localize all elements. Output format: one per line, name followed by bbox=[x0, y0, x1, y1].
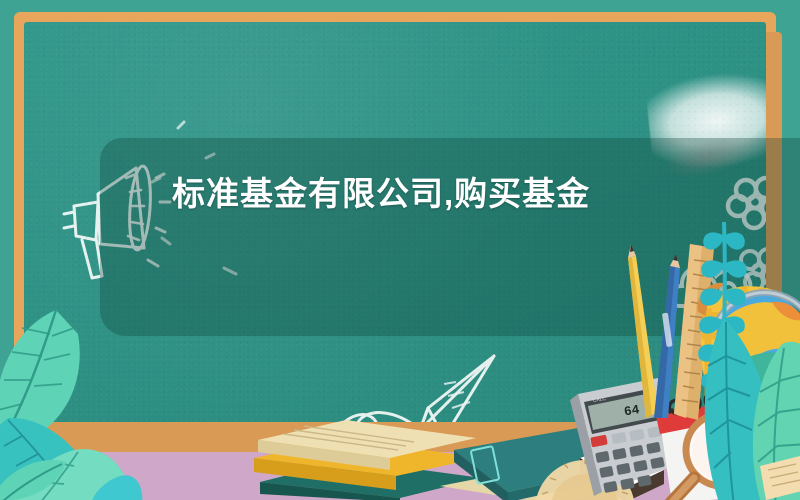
paper-scrap bbox=[756, 450, 800, 500]
leaf-bottom-left bbox=[0, 440, 90, 500]
page-title: 标准基金有限公司,购买基金 bbox=[172, 170, 652, 218]
banner-stage: 标准基金有限公司,购买基金 bbox=[0, 0, 800, 500]
